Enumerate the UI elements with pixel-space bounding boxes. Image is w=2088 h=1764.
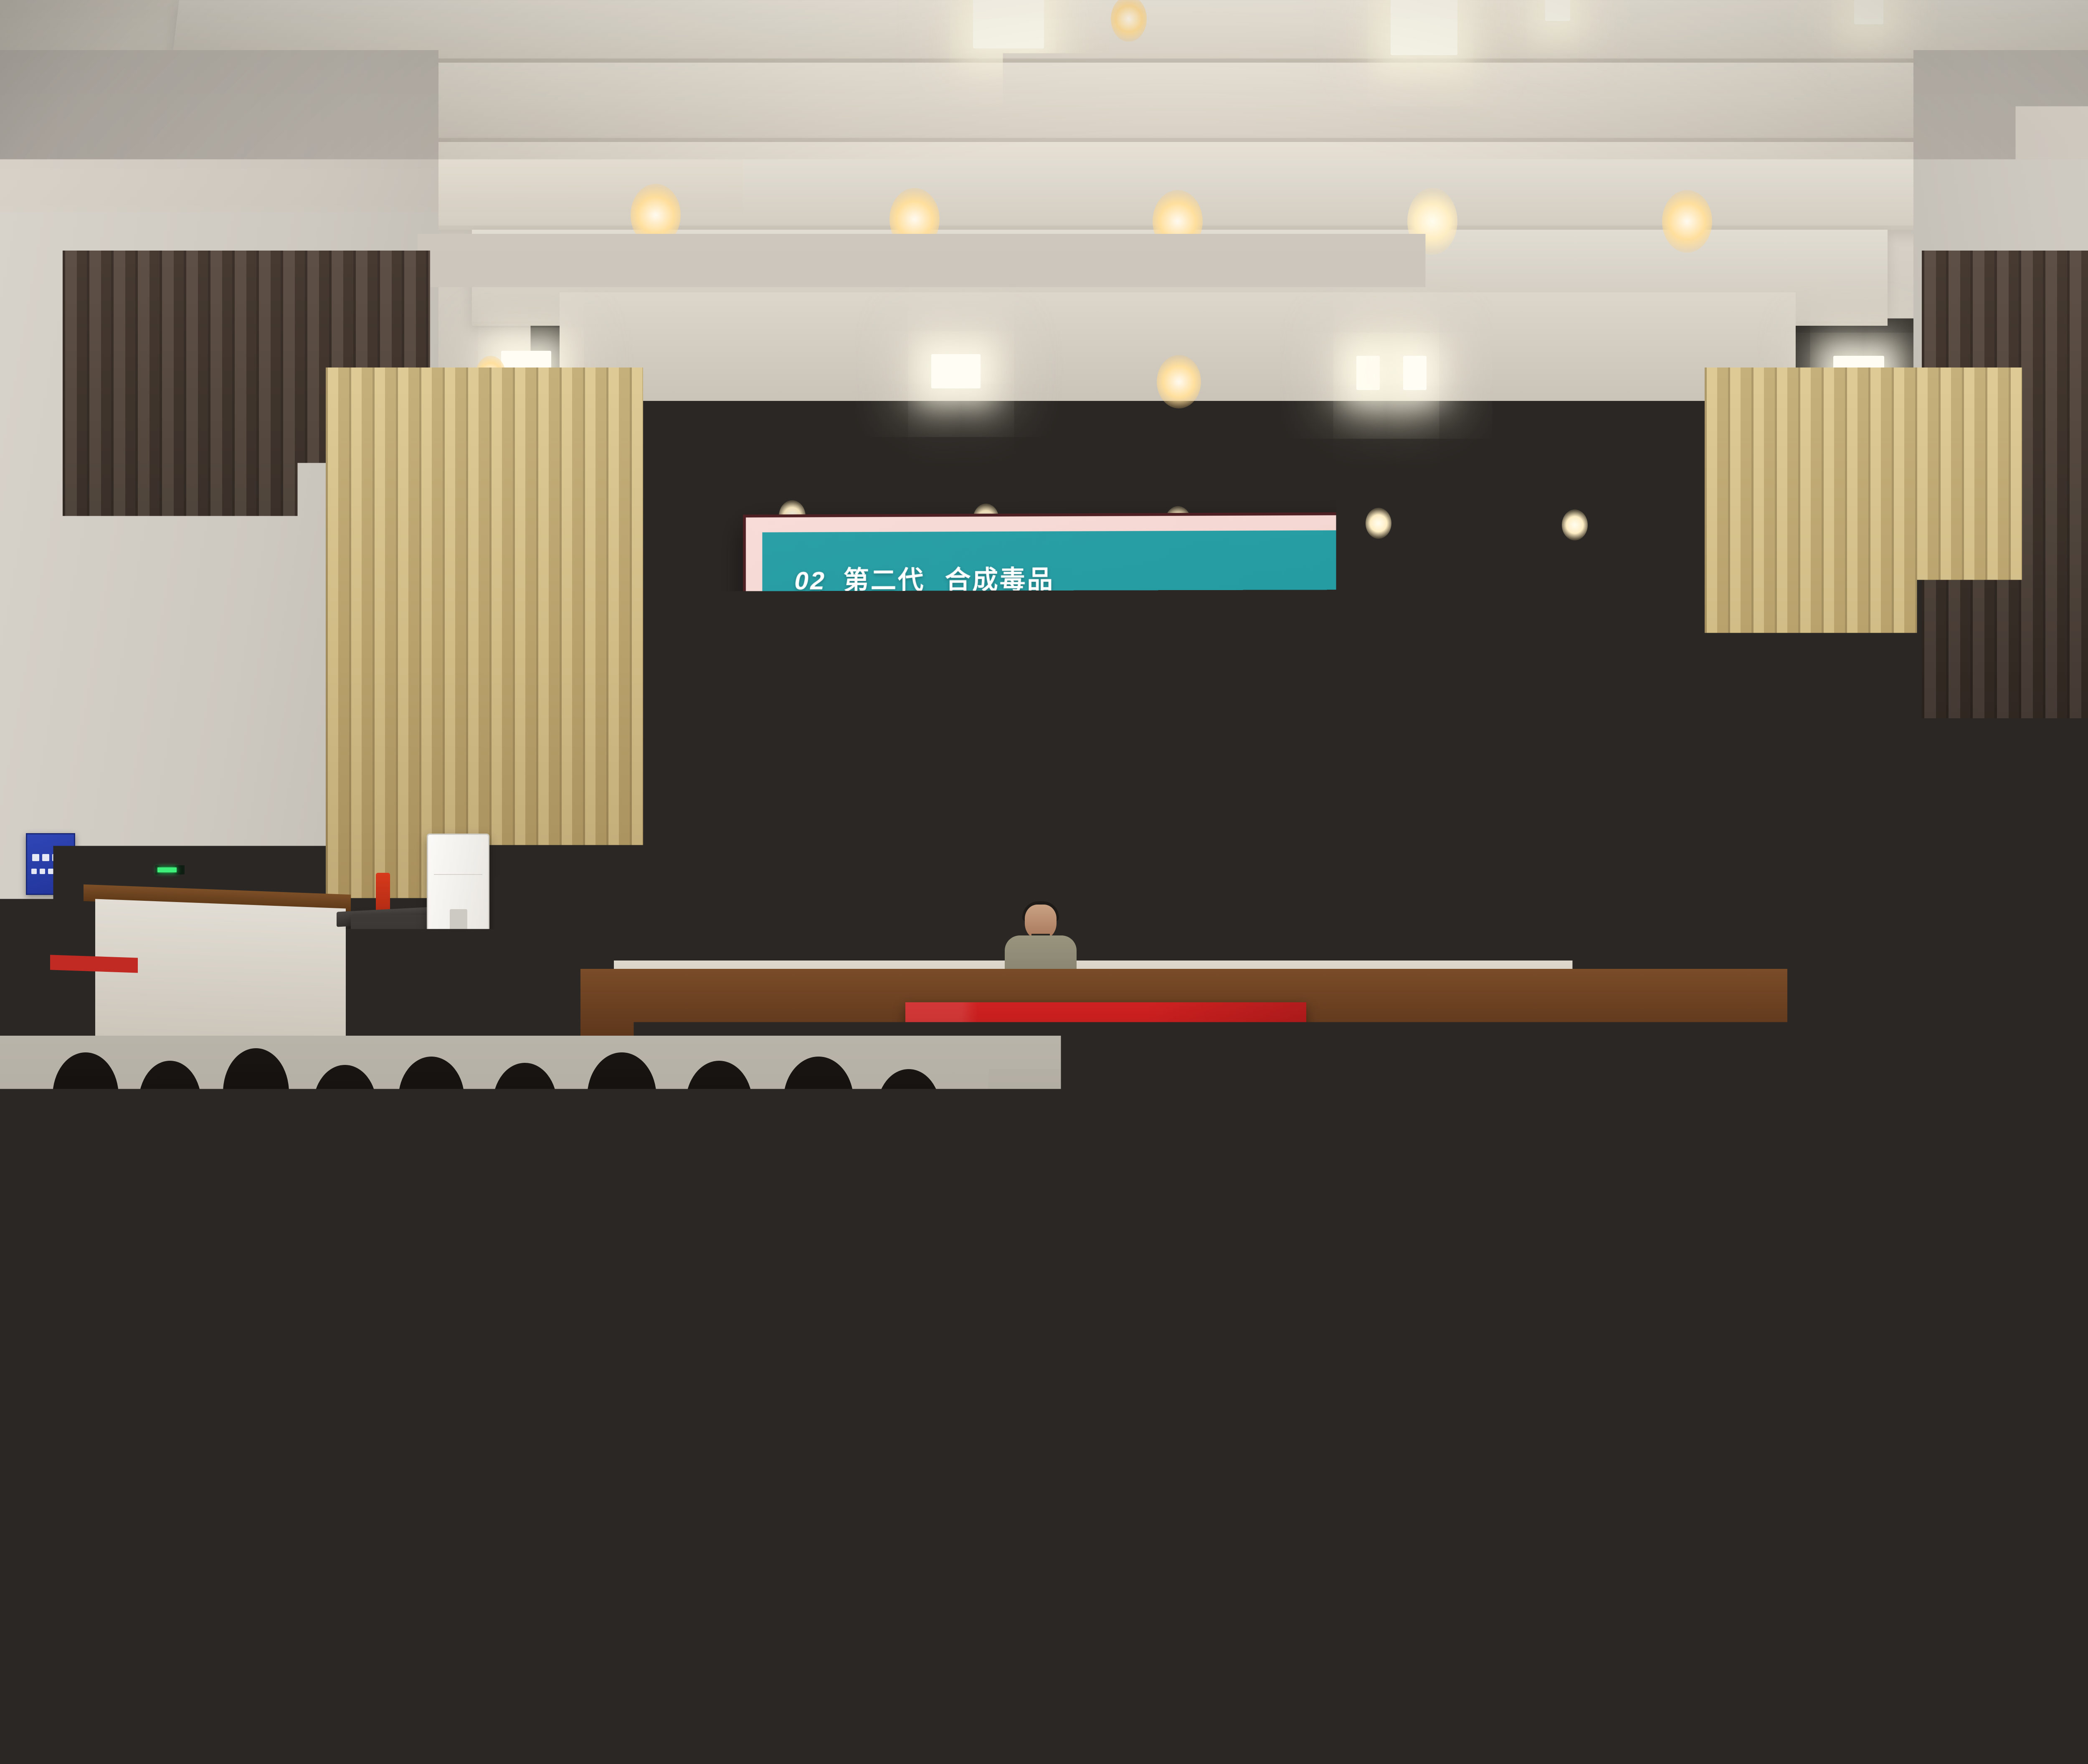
hair — [155, 1136, 221, 1199]
sign-glyph — [48, 869, 53, 874]
audience-member — [1528, 1595, 1787, 1764]
drug-photo-strip — [780, 715, 1611, 900]
slide-heading-part2: 合成毒品 — [945, 566, 1054, 595]
hair — [398, 1057, 464, 1141]
hair — [1553, 1595, 1762, 1764]
torso-jacket — [1837, 1645, 2088, 1764]
sign-line-bottom — [31, 869, 70, 874]
ceiling-panel-light — [1391, 0, 1457, 55]
safety-sign-left — [26, 833, 75, 895]
audience-member — [864, 1136, 956, 1253]
center-aisle — [948, 1069, 1240, 1764]
hair — [139, 1061, 201, 1144]
photo-ketamine-powder — [1278, 720, 1438, 893]
presentation-slide[interactable]: 02第二代合成毒品 冰毒 AMPHETAMINE 摇头丸 MDMA 麻古 MAG… — [762, 529, 1647, 927]
hair — [639, 1132, 706, 1199]
hair — [223, 1048, 289, 1137]
sign-glyph — [31, 869, 37, 874]
photo-amphetamine-crystals — [786, 720, 943, 892]
drug-label-caffeine: 咖啡因 CAFFEINE — [1531, 679, 1607, 707]
slide-title: 02第二代合成毒品 — [794, 559, 1054, 597]
slide-heading-part1: 第二代 — [844, 566, 925, 595]
thermos-ring — [274, 1363, 291, 1370]
desk-side-panel — [1203, 1437, 1361, 1612]
seat-back — [1353, 1487, 1437, 1625]
desk-side-panel — [764, 1349, 915, 1483]
screen-mat: 02第二代合成毒品 冰毒 AMPHETAMINE 摇头丸 MDMA 麻古 MAG… — [746, 514, 1664, 946]
audience-member — [2080, 1295, 2088, 1474]
hair — [1885, 1136, 1949, 1199]
pen-icon[interactable] — [818, 905, 832, 919]
air-conditioner-right — [1867, 834, 1929, 1059]
equipment-display — [155, 865, 185, 874]
speaker-bracket-left — [58, 716, 154, 727]
drug-name-cn: 摇头丸 — [1009, 679, 1055, 692]
drug-name-en: AMPHETAMINE — [785, 692, 893, 708]
hair — [299, 1211, 403, 1343]
seat-back — [292, 1654, 405, 1764]
hair — [750, 1228, 820, 1295]
projection-screen[interactable]: 02第二代合成毒品 冰毒 AMPHETAMINE 摇头丸 MDMA 麻古 MAG… — [743, 511, 1667, 949]
ceiling-panel-light — [1545, 0, 1570, 21]
bottle-cap — [28, 1438, 48, 1451]
drug-name-cn: 麻古 — [1172, 679, 1218, 692]
hair — [757, 1128, 843, 1241]
slide-section-number: 02 — [794, 567, 826, 596]
drug-label-row: 冰毒 AMPHETAMINE 摇头丸 MDMA 麻古 MAGU 氯胺酮（K粉） … — [785, 679, 1607, 707]
hair — [1292, 1052, 1358, 1138]
podium-emblem-icon — [384, 961, 408, 985]
more-options-icon[interactable] — [911, 905, 925, 919]
drug-label-amphetamine: 冰毒 AMPHETAMINE — [785, 680, 893, 708]
audience-member — [1888, 1428, 2075, 1662]
prev-slide-icon[interactable] — [772, 905, 786, 919]
ac-vent — [450, 909, 467, 933]
hair — [587, 1215, 691, 1346]
hair — [1948, 1307, 2031, 1392]
hair — [418, 1311, 501, 1395]
sign-glyph — [32, 854, 39, 861]
drug-name-cn: 咖啡因 — [1531, 679, 1607, 691]
ceiling-panel-light — [1854, 0, 1883, 24]
audience-member — [1837, 1629, 2088, 1764]
drug-name-en: MDMA — [1009, 692, 1055, 707]
gold-curtain-right — [1705, 367, 2022, 1052]
audience-member — [388, 1311, 530, 1487]
hair — [1383, 1061, 1447, 1143]
backpack — [555, 1629, 681, 1764]
audience-member — [1286, 1052, 1366, 1148]
hair — [1982, 1224, 2056, 1295]
photo-magu-tablets — [1113, 720, 1272, 893]
sign-glyph — [56, 869, 62, 874]
collapse-icon[interactable] — [934, 905, 948, 919]
water-bottle-desk — [22, 1449, 54, 1554]
laser-pointer-icon[interactable] — [841, 905, 856, 919]
ceiling-panel-light — [973, 0, 1044, 48]
hair — [1406, 1132, 1472, 1194]
hair — [1921, 1428, 2042, 1558]
drug-name-cn: 冰毒 — [785, 680, 893, 692]
aisle-step — [956, 1332, 1240, 1335]
sign-glyph — [65, 869, 70, 874]
sign-glyph — [62, 854, 69, 861]
slide-grid-icon[interactable] — [864, 905, 879, 919]
pen — [342, 1428, 365, 1433]
hair — [11, 1303, 126, 1456]
sign-glyph — [42, 854, 49, 861]
hair — [1651, 1054, 1717, 1141]
hair — [1305, 1303, 1388, 1391]
lecture-hall-photo: 02第二代合成毒品 冰毒 AMPHETAMINE 摇头丸 MDMA 麻古 MAG… — [0, 0, 2088, 1764]
audience-member — [576, 1215, 702, 1359]
wall-speaker-left — [53, 614, 156, 718]
sign-line-top — [32, 854, 69, 861]
aisle-step — [990, 1153, 1207, 1156]
aisle-step — [973, 1236, 1224, 1239]
hair — [163, 1224, 237, 1295]
sign-glyph — [40, 869, 45, 874]
hair — [144, 1307, 232, 1412]
hair — [53, 1052, 119, 1139]
hair — [33, 1132, 113, 1234]
bottle-label — [22, 1498, 54, 1533]
drug-label-mdma: 摇头丸 MDMA — [1009, 679, 1055, 707]
drug-name-cn: 氯胺酮（K粉） — [1335, 679, 1413, 692]
hair — [79, 1441, 192, 1579]
hair — [1457, 1420, 1583, 1558]
audience-member — [63, 1441, 255, 1675]
desk-side-panel — [614, 1453, 781, 1620]
backpack — [493, 1219, 568, 1311]
drug-name-en: CAFFEINE — [1531, 691, 1607, 707]
drug-label-ketamine: 氯胺酮（K粉） KETAMINE — [1335, 679, 1413, 707]
photo-caffeine-powder — [1444, 720, 1604, 894]
hair — [879, 1136, 941, 1198]
drug-label-magu: 麻古 MAGU — [1172, 679, 1218, 707]
drug-name-en: MAGU — [1172, 692, 1218, 707]
hair — [1472, 1052, 1538, 1139]
zoom-region-icon[interactable] — [887, 905, 902, 919]
hair — [1402, 1224, 1479, 1297]
powerpoint-presenter-toolbar[interactable] — [772, 905, 948, 919]
drug-name-en: KETAMINE — [1335, 692, 1413, 707]
photo-mdma-pills — [949, 720, 1107, 892]
pen — [367, 1427, 390, 1432]
audience-member — [727, 1228, 844, 1361]
fire-extinguisher-floor — [1136, 1179, 1159, 1246]
air-conditioner-left — [427, 834, 489, 1059]
ceiling-coffer-2 — [267, 63, 2088, 142]
side-counter-red-strip — [50, 955, 138, 973]
sign-glyph — [52, 854, 59, 861]
next-slide-icon[interactable] — [795, 905, 809, 919]
